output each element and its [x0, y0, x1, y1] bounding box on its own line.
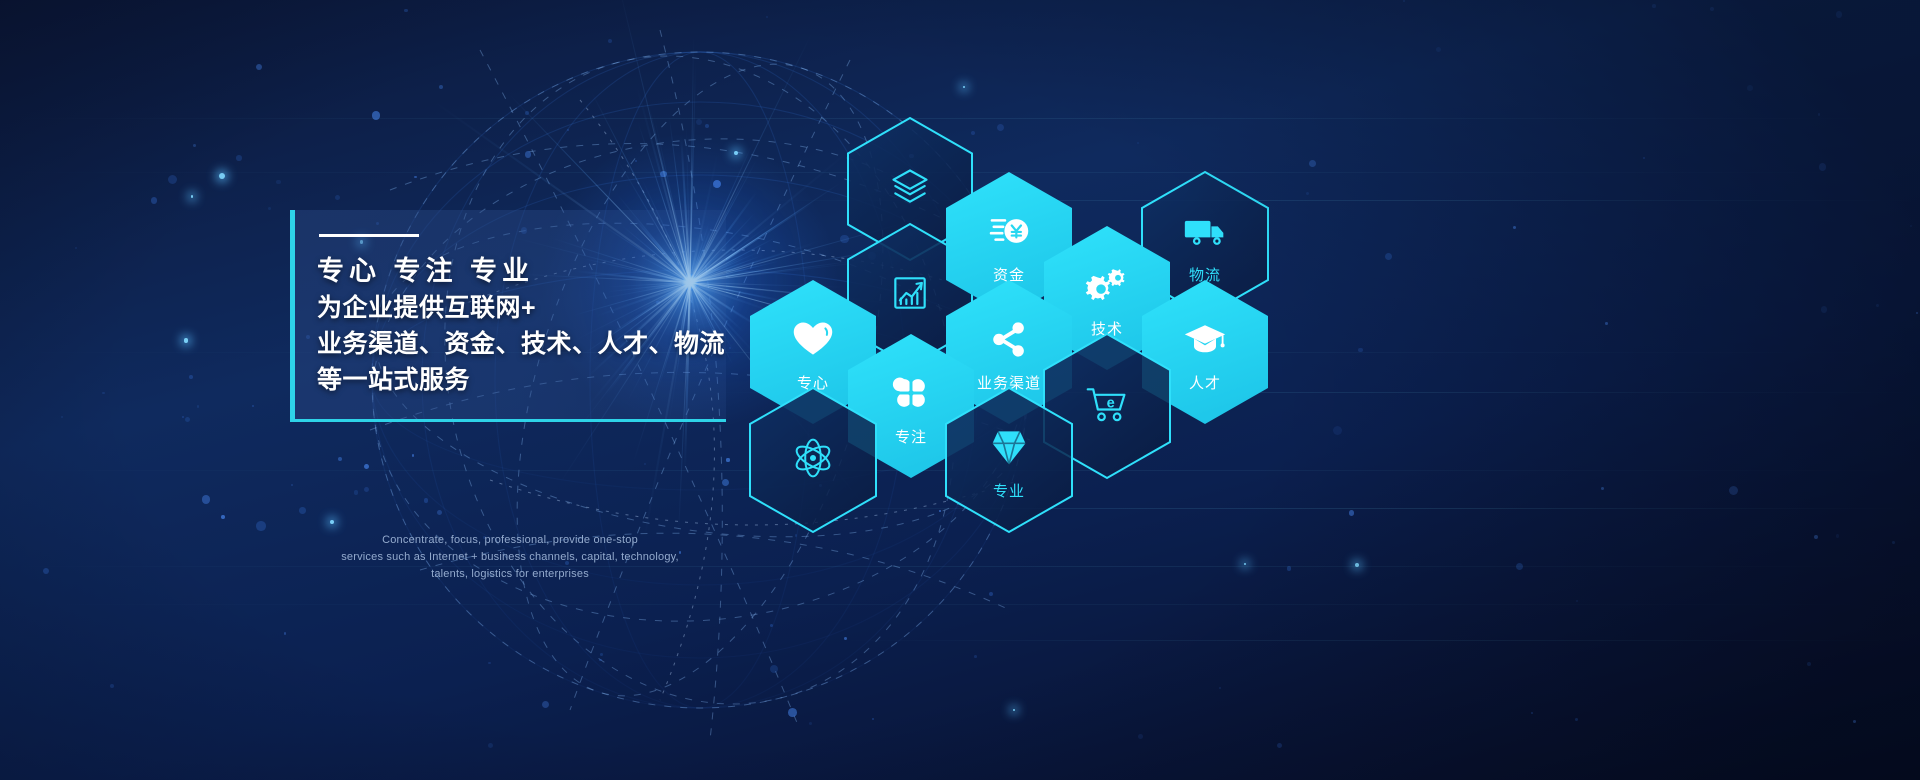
- particle-dot: [299, 507, 306, 514]
- particle-dot: [726, 458, 729, 461]
- particle-dot: [202, 495, 210, 503]
- particle-dot: [256, 64, 262, 70]
- headline-panel: 专心 专注 专业 为企业提供互联网+ 业务渠道、资金、技术、人才、物流 等一站式…: [290, 210, 726, 422]
- particle-dot: [939, 510, 941, 512]
- particle-dot: [221, 515, 225, 519]
- particle-dot: [1916, 312, 1918, 314]
- scan-line: [840, 640, 1920, 641]
- hexagon-atom[interactable]: [750, 388, 876, 532]
- scan-line: [760, 508, 1920, 509]
- panel-line-1: 为企业提供互联网+: [317, 290, 720, 326]
- particle-dot: [424, 498, 428, 502]
- particle-dot: [1710, 7, 1714, 11]
- particle-dot: [1819, 163, 1826, 170]
- particle-dot: [1513, 226, 1516, 229]
- scan-line: [0, 604, 1920, 605]
- banner-stage: 资金物流技术人才专心业务渠道专注e专业 专心 专注 专业 为企业提供互联网+ 业…: [0, 0, 1920, 780]
- particle-dot: [268, 207, 271, 210]
- particle-dot: [1309, 160, 1316, 167]
- particle-dot: [1836, 11, 1842, 17]
- diamond-icon: [946, 425, 1072, 469]
- particle-dot: [488, 662, 490, 664]
- particle-dot: [1333, 426, 1342, 435]
- particle-dot: [404, 9, 408, 13]
- particle-dot: [788, 708, 797, 717]
- english-subtitle: Concentrate, focus, professional, provid…: [300, 532, 720, 583]
- particle-dot: [488, 743, 493, 748]
- hexagon-label: 专业: [946, 480, 1072, 501]
- particle-dot: [770, 624, 773, 627]
- atom-icon: [750, 436, 876, 480]
- particle-dot: [1605, 322, 1608, 325]
- subtitle-line-1: Concentrate, focus, professional, provid…: [300, 532, 720, 549]
- particle-dot: [1349, 510, 1355, 516]
- particle-dot: [338, 457, 343, 462]
- particle-dot: [1836, 534, 1839, 537]
- particle-dot: [276, 180, 281, 185]
- particle-dot: [284, 632, 287, 635]
- subtitle-line-3: talents, logistics for enterprises: [300, 566, 720, 583]
- particle-dot: [191, 195, 193, 197]
- particle-dot: [1652, 4, 1656, 8]
- particle-dot: [219, 173, 225, 179]
- particle-dot: [236, 155, 242, 161]
- particle-dot: [1138, 734, 1143, 739]
- particle-dot: [256, 521, 266, 531]
- particle-dot: [795, 534, 797, 536]
- particle-dot: [354, 490, 358, 494]
- particle-dot: [1244, 563, 1246, 565]
- panel-headline: 专心 专注 专业: [317, 252, 720, 290]
- particle-dot: [197, 405, 199, 407]
- particle-dot: [696, 119, 702, 125]
- subtitle-line-2: services such as Internet + business cha…: [300, 549, 720, 566]
- particle-dot: [330, 520, 334, 524]
- scan-line: [0, 566, 1920, 567]
- particle-dot: [599, 659, 601, 661]
- particle-dot: [151, 197, 157, 203]
- particle-dot: [542, 701, 549, 708]
- particle-dot: [963, 86, 965, 88]
- particle-dot: [414, 176, 417, 179]
- particle-dot: [567, 129, 569, 131]
- particle-dot: [766, 16, 768, 18]
- panel-line-2: 业务渠道、资金、技术、人才、物流: [317, 326, 720, 362]
- particle-dot: [644, 463, 646, 465]
- particle-dot: [1601, 487, 1604, 490]
- panel-line-3: 等一站式服务: [317, 362, 720, 398]
- hexagon-zhuanye[interactable]: 专业: [946, 388, 1072, 532]
- panel-rule: [319, 234, 419, 237]
- particle-dot: [1137, 142, 1139, 144]
- svg-text:e: e: [1107, 395, 1115, 411]
- particle-dot: [525, 151, 532, 158]
- particle-dot: [1747, 85, 1753, 91]
- particle-dot: [974, 655, 977, 658]
- particle-dot: [1013, 709, 1015, 711]
